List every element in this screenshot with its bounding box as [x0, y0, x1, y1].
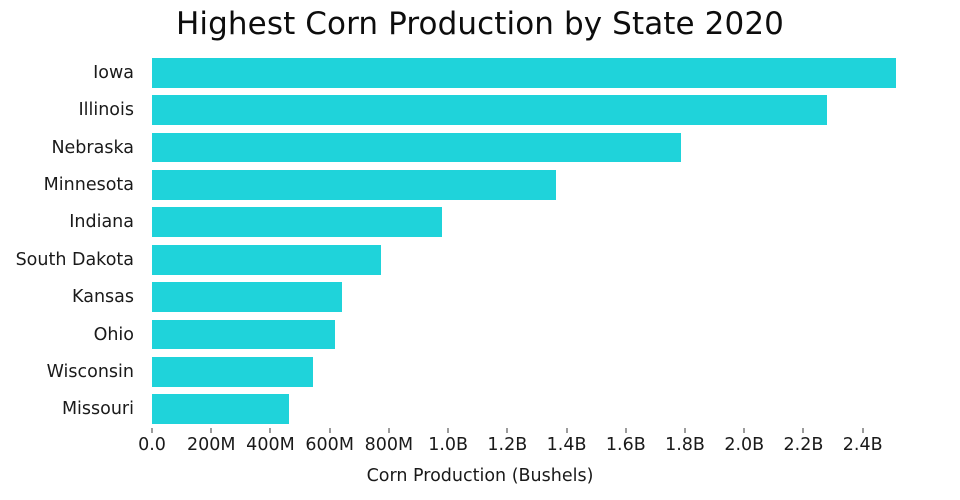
bar-row — [152, 95, 916, 125]
bar-indiana[interactable] — [152, 207, 442, 237]
x-tick-mark — [507, 428, 508, 433]
x-tick-mark — [152, 428, 153, 433]
x-tick-mark — [625, 428, 626, 433]
chart-figure: Highest Corn Production by State 2020 Io… — [0, 0, 960, 500]
x-tick-label-1.4B: 1.4B — [547, 435, 587, 455]
x-tick-label-400M: 400M — [246, 435, 295, 455]
x-axis: 0.0200M400M600M800M1.0B1.2B1.4B1.6B1.8B2… — [0, 428, 960, 468]
x-tick-mark — [566, 428, 567, 433]
y-tick-label-wisconsin: Wisconsin — [0, 362, 144, 382]
y-tick-label-minnesota: Minnesota — [0, 175, 144, 195]
x-tick-label-1.0B: 1.0B — [428, 435, 468, 455]
x-axis-title: Corn Production (Bushels) — [0, 466, 960, 486]
x-tick-label-2.0B: 2.0B — [724, 435, 764, 455]
x-tick-mark — [685, 428, 686, 433]
bar-row — [152, 320, 916, 350]
bar-nebraska[interactable] — [152, 133, 681, 163]
x-tick-label-200M: 200M — [187, 435, 236, 455]
x-tick-mark — [744, 428, 745, 433]
x-tick-mark — [388, 428, 389, 433]
bar-illinois[interactable] — [152, 95, 827, 125]
bar-iowa[interactable] — [152, 58, 896, 88]
bar-ohio[interactable] — [152, 320, 335, 350]
y-tick-label-illinois: Illinois — [0, 100, 144, 120]
x-tick-mark — [448, 428, 449, 433]
y-tick-label-south-dakota: South Dakota — [0, 250, 144, 270]
bar-row — [152, 170, 916, 200]
x-tick-mark — [803, 428, 804, 433]
x-tick-mark — [270, 428, 271, 433]
x-tick-mark — [211, 428, 212, 433]
bar-row — [152, 357, 916, 387]
x-tick-label-2.4B: 2.4B — [843, 435, 883, 455]
x-tick-mark — [329, 428, 330, 433]
plot-area — [152, 54, 916, 428]
y-axis-tick-labels: IowaIllinoisNebraskaMinnesotaIndianaSout… — [0, 54, 144, 428]
bar-minnesota[interactable] — [152, 170, 556, 200]
x-tick-label-1.6B: 1.6B — [606, 435, 646, 455]
x-tick-label-0.0: 0.0 — [138, 435, 166, 455]
bar-row — [152, 282, 916, 312]
bar-south-dakota[interactable] — [152, 245, 381, 275]
bar-row — [152, 245, 916, 275]
bar-row — [152, 207, 916, 237]
x-tick-label-1.8B: 1.8B — [665, 435, 705, 455]
bar-wisconsin[interactable] — [152, 357, 313, 387]
x-tick-label-2.2B: 2.2B — [784, 435, 824, 455]
x-tick-label-1.2B: 1.2B — [487, 435, 527, 455]
y-tick-label-indiana: Indiana — [0, 212, 144, 232]
y-tick-label-missouri: Missouri — [0, 399, 144, 419]
x-tick-mark — [862, 428, 863, 433]
y-tick-label-kansas: Kansas — [0, 287, 144, 307]
bar-row — [152, 394, 916, 424]
y-tick-label-ohio: Ohio — [0, 325, 144, 345]
y-tick-label-nebraska: Nebraska — [0, 138, 144, 158]
x-tick-label-800M: 800M — [365, 435, 414, 455]
x-tick-label-600M: 600M — [305, 435, 354, 455]
bar-missouri[interactable] — [152, 394, 289, 424]
bar-kansas[interactable] — [152, 282, 342, 312]
y-tick-label-iowa: Iowa — [0, 63, 144, 83]
chart-title: Highest Corn Production by State 2020 — [0, 4, 960, 44]
bar-row — [152, 58, 916, 88]
bar-row — [152, 133, 916, 163]
